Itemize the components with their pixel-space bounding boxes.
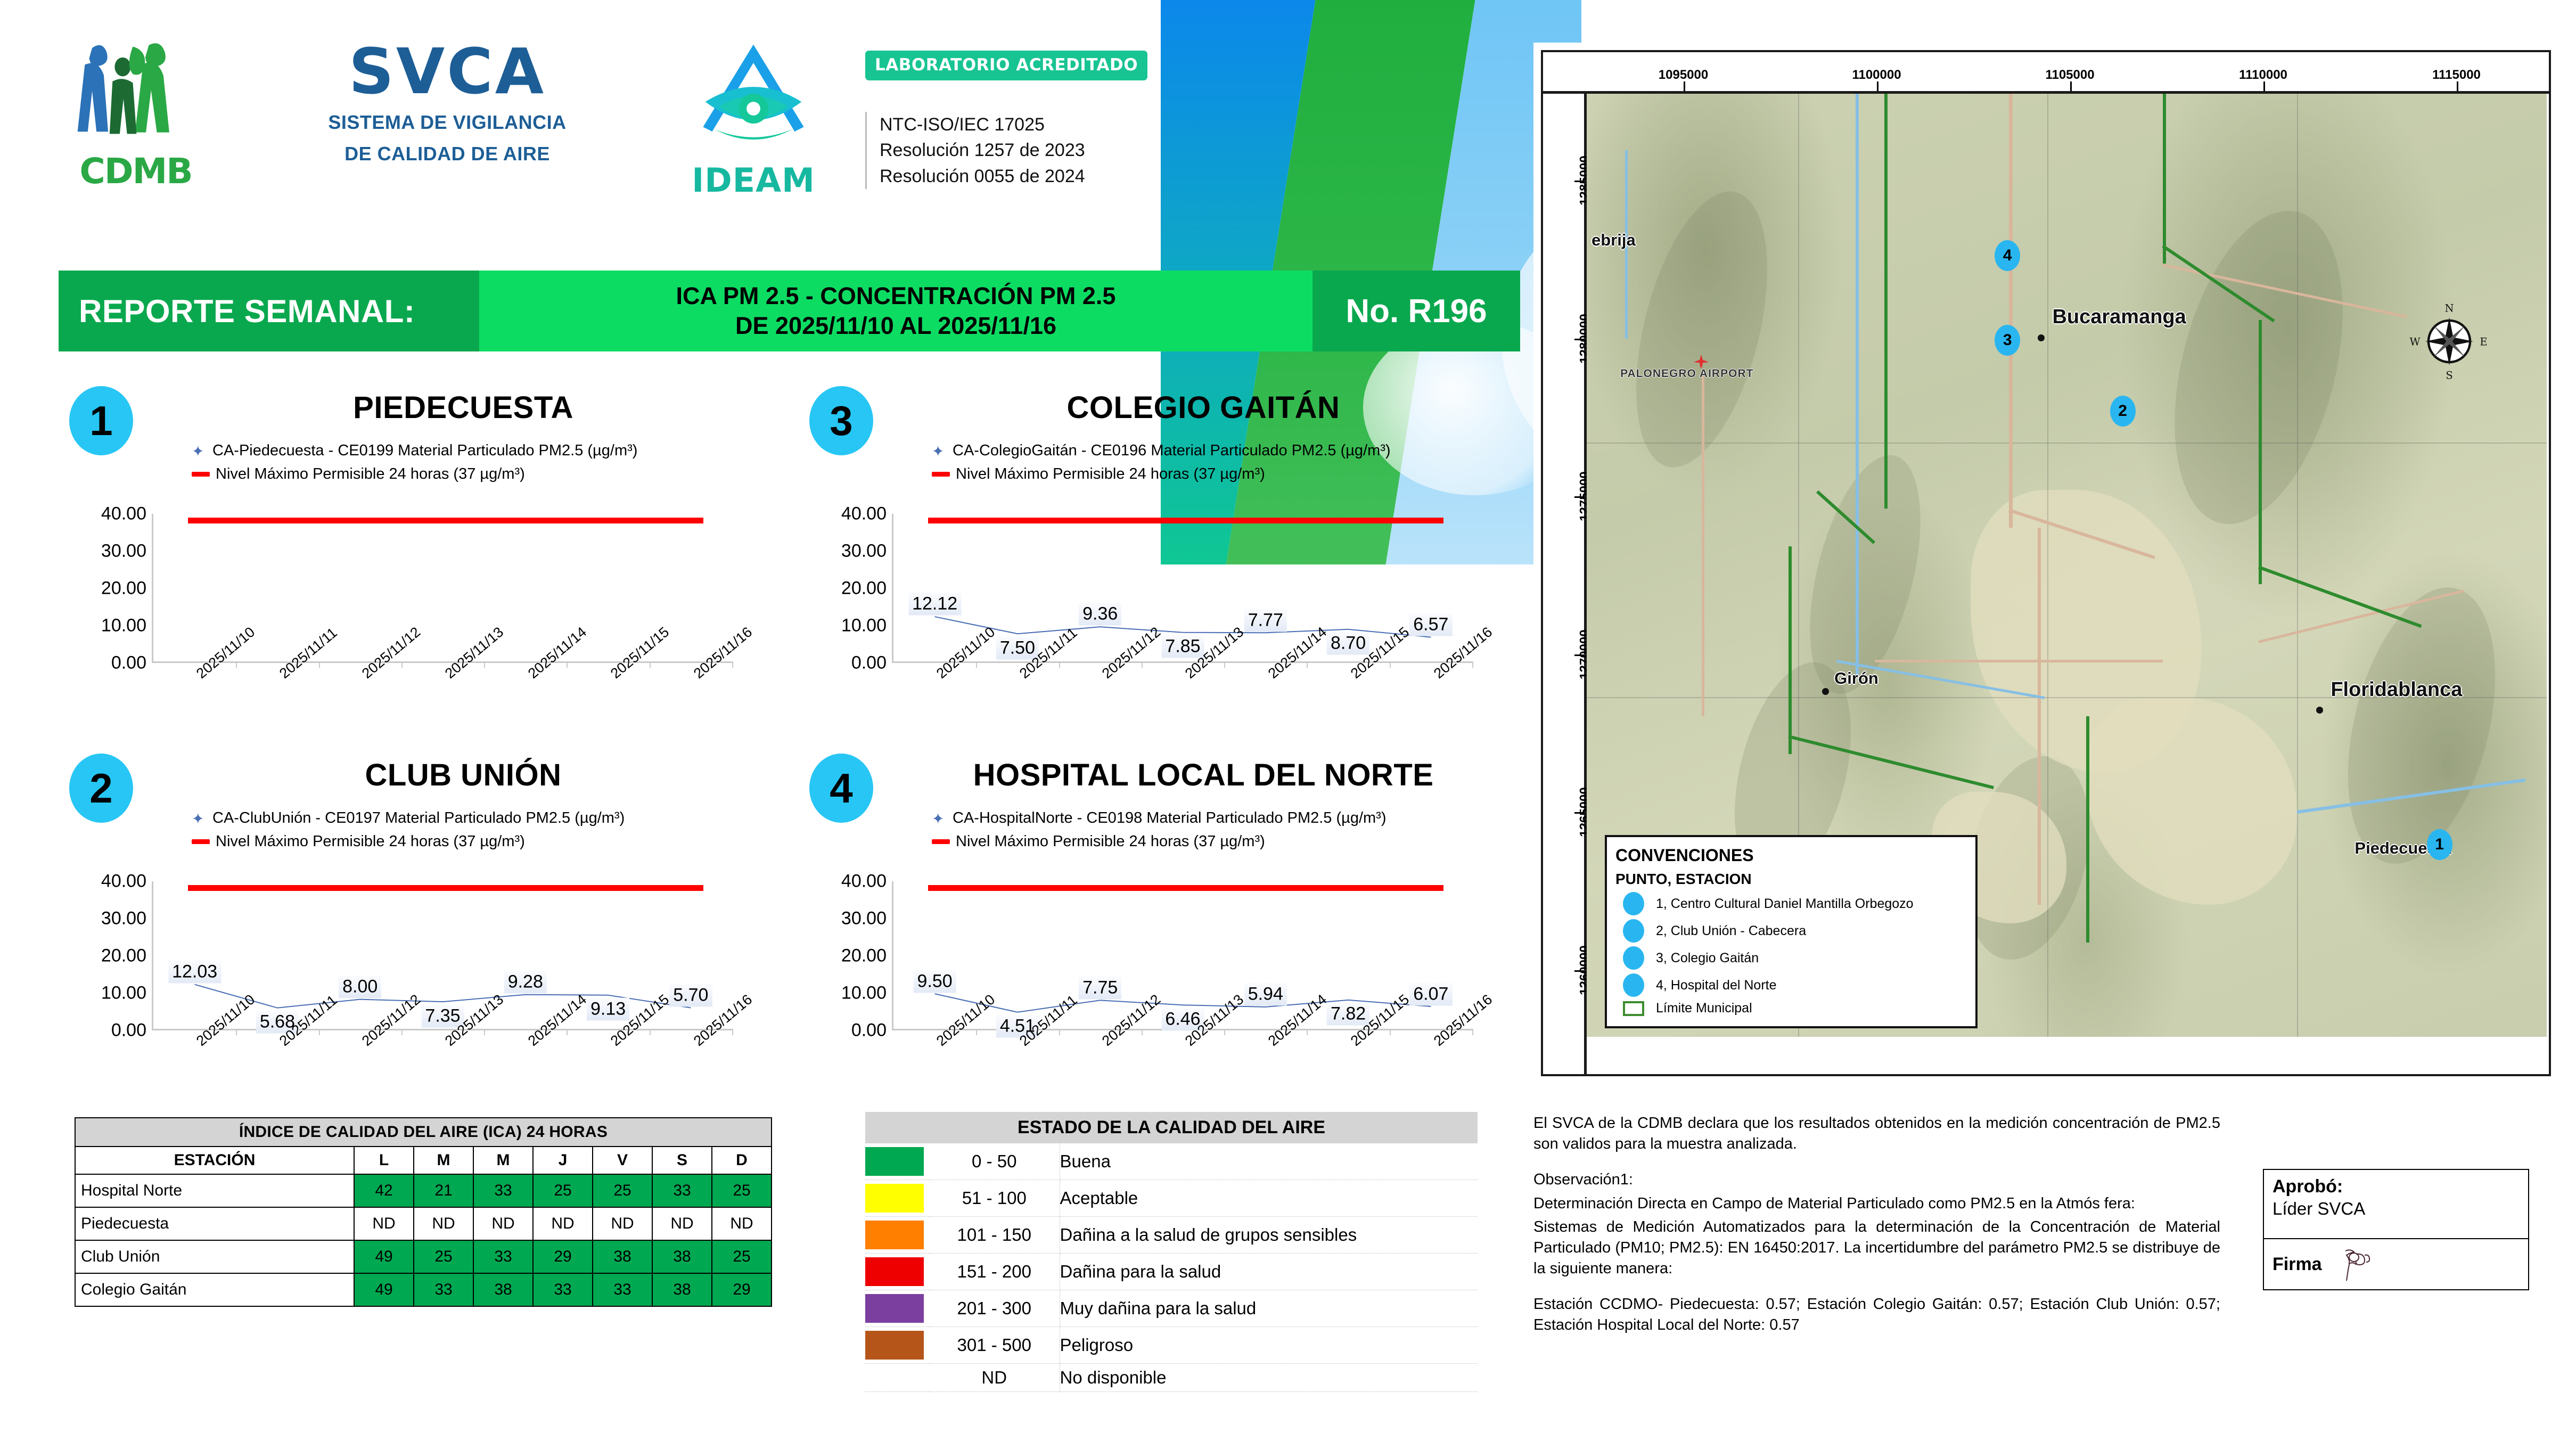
map-x-tick-mark — [1877, 81, 1878, 91]
map-legend-item: 1, Centro Cultural Daniel Mantilla Orbeg… — [1615, 892, 1967, 915]
list-item: 301 - 500Peligroso — [865, 1327, 1478, 1364]
legend-limit-row: Nivel Máximo Permisible 24 horas (37 µg/… — [932, 833, 1387, 850]
legend-limit-row: Nivel Máximo Permisible 24 horas (37 µg/… — [192, 833, 625, 850]
y-tick-label: 10.00 — [101, 616, 146, 636]
map-pin-4-hospital-norte[interactable]: 4 — [1995, 240, 2020, 271]
chart-plot-area-colegio-gaitan: 0.0010.0020.0030.0040.0012.127.509.367.8… — [799, 514, 1539, 724]
ica-value-cell: 33 — [593, 1273, 652, 1306]
x-axis-tick — [976, 1029, 977, 1035]
data-label: 6.57 — [1409, 613, 1452, 636]
list-item: 201 - 300Muy dañina para la salud — [865, 1290, 1478, 1327]
aq-legend-title: ESTADO DE LA CALIDAD DEL AIRE — [865, 1112, 1478, 1143]
aq-description-label: Peligroso — [1060, 1327, 1478, 1364]
aq-range-label: 301 - 500 — [929, 1327, 1060, 1364]
map-x-tick-label: 1110000 — [2239, 68, 2287, 83]
aq-range-label: ND — [929, 1364, 1060, 1392]
legend-limit-label: Nivel Máximo Permisible 24 horas (37 µg/… — [956, 833, 1265, 850]
map-y-axis: 1285000128000012750001270000126500012600… — [1543, 94, 1587, 1074]
city-label-giron: Girón — [1834, 669, 1878, 688]
ica-value-cell: ND — [414, 1207, 473, 1240]
cdmb-logo: CDMB — [59, 32, 213, 192]
ica-value-cell: 38 — [652, 1240, 712, 1273]
ica-col-day: L — [354, 1147, 414, 1174]
red-line-marker-icon — [192, 839, 210, 844]
aq-color-cell — [865, 1364, 929, 1392]
city-dot-giron — [1822, 688, 1829, 695]
map-legend-box: CONVENCIONES PUNTO, ESTACION 1, Centro C… — [1605, 835, 1978, 1028]
city-label-lebrija: ebrija — [1591, 231, 1636, 250]
map-x-tick-mark — [2457, 81, 2458, 91]
station-point-icon — [1623, 919, 1644, 943]
x-axis-tick — [236, 1029, 237, 1035]
map-x-tick-label: 1105000 — [2045, 68, 2094, 83]
map-legend-boundary-label: Límite Municipal — [1656, 1001, 1752, 1016]
chart-badge-piedecuesta: 1 — [69, 386, 133, 455]
svca-logo: SVCA SISTEMA DE VIGILANCIA DE CALIDAD DE… — [298, 40, 596, 194]
aq-description-label: No disponible — [1060, 1364, 1478, 1392]
svg-text:W: W — [2409, 335, 2420, 348]
legend-series-label: CA-ClubUnión - CE0197 Material Particula… — [212, 809, 625, 827]
ica-value-cell: 33 — [473, 1174, 533, 1207]
x-axis-tick — [1390, 1029, 1391, 1035]
aq-color-cell — [865, 1180, 929, 1217]
y-tick-label: 20.00 — [101, 578, 146, 599]
map-x-tick-label: 1100000 — [1852, 68, 1901, 83]
legend-series-row: ✦CA-ColegioGaitán - CE0196 Material Part… — [932, 442, 1391, 460]
ica-value-cell: 25 — [712, 1174, 772, 1207]
approved-by-value: Líder SVCA — [2273, 1199, 2528, 1219]
y-tick-label: 40.00 — [841, 871, 887, 892]
aq-color-cell — [865, 1290, 929, 1327]
x-axis-tick — [1472, 661, 1473, 668]
data-label: 9.50 — [914, 970, 956, 993]
declaration-observation-title: Observación1: — [1533, 1169, 2220, 1190]
map-legend-title: CONVENCIONES — [1615, 846, 1967, 865]
declaration-text: El SVCA de la CDMB declara que los resul… — [1533, 1113, 2220, 1339]
y-tick-label: 0.00 — [111, 653, 146, 674]
data-label: 7.77 — [1244, 609, 1287, 632]
location-map: 10950001100000110500011100001115000 1285… — [1533, 43, 2558, 1084]
data-label: 6.07 — [1409, 983, 1452, 1005]
aq-description-label: Dañina para la salud — [1060, 1254, 1478, 1290]
signature-mark — [2338, 1246, 2381, 1283]
municipal-boundary-icon — [1623, 1001, 1644, 1016]
x-axis-tick — [1472, 1029, 1473, 1035]
chart-plot-area-piedecuesta: 0.0010.0020.0030.0040.002025/11/102025/1… — [59, 514, 799, 724]
table-row: Hospital Norte42213325253325 — [75, 1174, 772, 1207]
ica-value-cell: 49 — [354, 1273, 414, 1306]
map-legend-item-label: 2, Club Unión - Cabecera — [1656, 923, 1806, 939]
map-legend-item-label: 1, Centro Cultural Daniel Mantilla Orbeg… — [1656, 896, 1914, 912]
ica-value-cell: 33 — [414, 1273, 473, 1306]
y-tick-label: 10.00 — [841, 616, 887, 636]
ica-value-cell: 33 — [533, 1273, 593, 1306]
chart-legend-hospital-norte: ✦CA-HospitalNorte - CE0198 Material Part… — [932, 809, 1387, 856]
city-dot-bucaramanga — [2038, 334, 2045, 341]
ica-col-day: M — [473, 1147, 533, 1174]
data-label: 9.36 — [1079, 603, 1121, 626]
y-tick-label: 40.00 — [841, 504, 887, 525]
ica-value-cell: 25 — [712, 1240, 772, 1273]
map-legend-item: 3, Colegio Gaitán — [1615, 946, 1967, 970]
x-axis-tick — [567, 661, 568, 668]
aq-description-label: Aceptable — [1060, 1180, 1478, 1217]
y-tick-label: 20.00 — [841, 946, 887, 967]
banner-title-line1: ICA PM 2.5 - CONCENTRACIÓN PM 2.5 — [479, 281, 1312, 311]
ica-col-day: S — [652, 1147, 712, 1174]
data-label: 7.82 — [1327, 1003, 1369, 1026]
ica-value-cell: 42 — [354, 1174, 414, 1207]
x-axis-tick — [732, 661, 733, 668]
table-row: Club Unión49253329383825 — [75, 1240, 772, 1273]
aq-color-cell — [865, 1327, 929, 1364]
aq-color-swatch — [865, 1294, 924, 1323]
aq-color-swatch — [865, 1257, 924, 1286]
table-row: PiedecuestaNDNDNDNDNDNDND — [75, 1207, 772, 1240]
aq-color-swatch — [865, 1221, 924, 1249]
ica-table-title: ÍNDICE DE CALIDAD DEL AIRE (ICA) 24 HORA… — [75, 1118, 772, 1147]
report-page: CDMB SVCA SISTEMA DE VIGILANCIA DE CALID… — [0, 0, 2576, 1449]
svg-text:E: E — [2480, 335, 2487, 348]
x-axis-tick — [484, 1029, 485, 1035]
ica-table: ÍNDICE DE CALIDAD DEL AIRE (ICA) 24 HORA… — [75, 1117, 772, 1307]
legend-limit-label: Nivel Máximo Permisible 24 horas (37 µg/… — [216, 465, 525, 483]
x-axis-tick — [567, 1029, 568, 1035]
svca-tagline-line2: DE CALIDAD DE AIRE — [298, 142, 596, 166]
diamond-marker-icon: ✦ — [932, 444, 946, 458]
y-tick-label: 40.00 — [101, 504, 146, 525]
y-tick-label: 0.00 — [851, 653, 887, 674]
ideam-logo: IDEAM — [682, 40, 825, 200]
ica-value-cell: 29 — [712, 1273, 772, 1306]
y-tick-label: 10.00 — [101, 983, 146, 1004]
map-x-tick-mark — [2263, 81, 2265, 91]
ica-col-day: M — [414, 1147, 473, 1174]
legend-limit-row: Nivel Máximo Permisible 24 horas (37 µg/… — [932, 465, 1391, 483]
diamond-marker-icon: ✦ — [192, 444, 206, 458]
map-legend-item: 2, Club Unión - Cabecera — [1615, 919, 1967, 943]
ica-col-day: J — [533, 1147, 593, 1174]
aq-description-label: Muy dañina para la salud — [1060, 1290, 1478, 1327]
station-point-icon — [1623, 946, 1644, 970]
aq-range-label: 0 - 50 — [929, 1143, 1060, 1180]
x-axis-tick — [732, 1029, 733, 1035]
map-y-tick-mark — [1574, 654, 1584, 656]
data-label: 8.00 — [339, 976, 381, 998]
aq-range-label: 201 - 300 — [929, 1290, 1060, 1327]
y-tick-label: 30.00 — [101, 908, 146, 929]
x-axis-tick — [1224, 1029, 1225, 1035]
declaration-paragraph-1: El SVCA de la CDMB declara que los resul… — [1533, 1113, 2220, 1155]
aq-color-cell — [865, 1143, 929, 1180]
map-y-tick-mark — [1574, 496, 1584, 498]
city-label-floridablanca: Floridablanca — [2331, 678, 2462, 701]
chart-title-hospital-norte: HOSPITAL LOCAL DEL NORTE — [889, 757, 1517, 793]
ica-value-cell: 38 — [652, 1273, 712, 1306]
data-label: 7.85 — [1161, 635, 1204, 658]
legend-series-row: ✦CA-HospitalNorte - CE0198 Material Part… — [932, 809, 1387, 827]
chart-panel-colegio-gaitan: 3COLEGIO GAITÁN✦CA-ColegioGaitán - CE019… — [799, 373, 1539, 724]
declaration-paragraph-3: Sistemas de Medición Automatizados para … — [1533, 1217, 2220, 1279]
chart-title-colegio-gaitan: COLEGIO GAITÁN — [889, 390, 1517, 425]
y-tick-label: 30.00 — [841, 908, 887, 929]
x-axis-tick — [236, 661, 237, 668]
list-item: 101 - 150Dañina a la salud de grupos sen… — [865, 1217, 1478, 1254]
x-axis-tick — [1390, 661, 1391, 668]
aq-description-label: Buena — [1060, 1143, 1478, 1180]
x-axis-labels: 2025/11/102025/11/112025/11/122025/11/13… — [892, 669, 1472, 728]
airport-label: PALONEGRO AIRPORT — [1620, 367, 1753, 380]
aq-description-label: Dañina a la salud de grupos sensibles — [1060, 1217, 1478, 1254]
ideam-label: IDEAM — [682, 161, 825, 200]
y-axis: 0.0010.0020.0030.0040.00 — [815, 881, 887, 1030]
signature-box: Aprobó: Líder SVCA Firma — [2263, 1169, 2529, 1290]
svca-acronym: SVCA — [298, 40, 596, 103]
list-item: 51 - 100Aceptable — [865, 1180, 1478, 1217]
banner-report-label: REPORTE SEMANAL: — [59, 271, 479, 351]
y-tick-label: 40.00 — [101, 871, 146, 892]
map-legend-subtitle: PUNTO, ESTACION — [1615, 871, 1967, 888]
ica-value-cell: 25 — [593, 1174, 652, 1207]
y-tick-label: 0.00 — [851, 1020, 887, 1041]
svg-text:S: S — [2446, 369, 2452, 381]
map-legend-items: 1, Centro Cultural Daniel Mantilla Orbeg… — [1615, 892, 1967, 997]
ica-station-name: Colegio Gaitán — [75, 1273, 354, 1306]
y-axis: 0.0010.0020.0030.0040.00 — [75, 881, 146, 1030]
red-line-marker-icon — [932, 472, 950, 477]
map-x-tick-mark — [2070, 81, 2072, 91]
map-frame: 10950001100000110500011100001115000 1285… — [1541, 50, 2551, 1076]
ica-col-station: ESTACIÓN — [75, 1147, 354, 1174]
data-label: 8.70 — [1327, 632, 1369, 655]
table-row: Colegio Gaitán49333833333829 — [75, 1273, 772, 1306]
list-item: 151 - 200Dañina para la salud — [865, 1254, 1478, 1290]
x-axis-tick — [319, 1029, 320, 1035]
x-axis-tick — [401, 661, 403, 668]
norm-resolucion-1257: Resolución 1257 de 2023 — [880, 137, 1085, 163]
x-axis-tick — [976, 661, 977, 668]
chart-plot-area-hospital-norte: 0.0010.0020.0030.0040.009.504.517.756.46… — [799, 881, 1539, 1092]
x-axis-tick — [484, 661, 485, 668]
legend-series-label: CA-Piedecuesta - CE0199 Material Particu… — [212, 442, 637, 460]
ideam-eye-icon — [682, 40, 825, 154]
legend-series-label: CA-ColegioGaitán - CE0196 Material Parti… — [953, 442, 1391, 460]
map-pin-3-colegio-gaitan[interactable]: 3 — [1995, 325, 2020, 356]
svca-tagline-line1: SISTEMA DE VIGILANCIA — [298, 110, 596, 134]
ica-value-cell: 21 — [414, 1174, 473, 1207]
data-label: 9.28 — [504, 971, 547, 994]
aq-legend-body: 0 - 50Buena51 - 100Aceptable101 - 150Dañ… — [865, 1143, 1478, 1392]
ica-value-cell: ND — [533, 1207, 593, 1240]
chart-panel-hospital-norte: 4HOSPITAL LOCAL DEL NORTE✦CA-HospitalNor… — [799, 740, 1539, 1092]
accreditation-norms: NTC-ISO/IEC 17025 Resolución 1257 de 202… — [865, 112, 1085, 189]
map-x-axis: 10950001100000110500011100001115000 — [1543, 52, 2549, 94]
x-axis-tick — [1142, 1029, 1143, 1035]
permissible-limit-line — [188, 518, 703, 523]
approved-by-label: Aprobó: — [2273, 1176, 2528, 1197]
chart-title-club-union: CLUB UNIÓN — [149, 757, 777, 793]
map-legend-item-boundary: Límite Municipal — [1615, 1001, 1967, 1016]
firma-label: Firma — [2273, 1254, 2322, 1275]
x-axis-tick — [650, 1029, 651, 1035]
norm-resolucion-0055: Resolución 0055 de 2024 — [880, 163, 1085, 189]
ica-table-header-row: ESTACIÓNLMMJVSD — [75, 1147, 772, 1174]
list-item: NDNo disponible — [865, 1364, 1478, 1392]
svg-text:N: N — [2444, 302, 2454, 314]
legend-series-label: CA-HospitalNorte - CE0198 Material Parti… — [953, 809, 1387, 827]
legend-series-row: ✦CA-ClubUnión - CE0197 Material Particul… — [192, 809, 625, 827]
data-label: 12.12 — [908, 593, 961, 616]
x-axis-tick — [1142, 661, 1143, 668]
red-line-marker-icon — [932, 839, 950, 844]
chart-badge-club-union: 2 — [69, 754, 133, 823]
station-point-icon — [1623, 973, 1644, 997]
x-axis-tick — [1224, 661, 1225, 668]
x-axis-labels: 2025/11/102025/11/112025/11/122025/11/13… — [892, 1037, 1472, 1095]
ica-station-name: Club Unión — [75, 1240, 354, 1273]
signature-cell: Firma — [2264, 1239, 2528, 1289]
map-x-tick-mark — [1684, 81, 1685, 91]
map-y-tick-mark — [1574, 970, 1584, 972]
air-quality-legend-table: ESTADO DE LA CALIDAD DEL AIRE 0 - 50Buen… — [865, 1112, 1478, 1392]
data-label: 5.70 — [669, 984, 712, 1007]
x-axis-tick — [1059, 661, 1060, 668]
y-tick-label: 30.00 — [101, 541, 146, 562]
legend-limit-label: Nivel Máximo Permisible 24 horas (37 µg/… — [216, 833, 525, 850]
diamond-marker-icon: ✦ — [192, 812, 206, 825]
chart-panel-club-union: 2CLUB UNIÓN✦CA-ClubUnión - CE0197 Materi… — [59, 740, 799, 1092]
y-tick-label: 30.00 — [841, 541, 887, 562]
aq-color-swatch — [865, 1147, 924, 1176]
ica-value-cell: 33 — [473, 1240, 533, 1273]
ica-value-cell: 29 — [533, 1240, 593, 1273]
aq-color-swatch — [865, 1331, 924, 1360]
y-tick-label: 10.00 — [841, 983, 887, 1004]
legend-limit-row: Nivel Máximo Permisible 24 horas (37 µg/… — [192, 465, 637, 483]
ica-value-cell: ND — [593, 1207, 652, 1240]
x-axis-tick — [1307, 661, 1308, 668]
y-axis: 0.0010.0020.0030.0040.00 — [75, 514, 146, 663]
aq-range-label: 51 - 100 — [929, 1180, 1060, 1217]
map-y-tick-mark — [1574, 339, 1584, 340]
map-y-tick-mark — [1574, 181, 1584, 182]
declaration-paragraph-4: Estación CCDMO- Piedecuesta: 0.57; Estac… — [1533, 1294, 2220, 1336]
map-legend-item: 4, Hospital del Norte — [1615, 973, 1967, 997]
data-label: 12.03 — [168, 960, 221, 983]
x-axis-labels: 2025/11/102025/11/112025/11/122025/11/13… — [152, 1037, 732, 1095]
x-axis-tick — [319, 661, 320, 668]
ica-table-body: Hospital Norte42213325253325PiedecuestaN… — [75, 1174, 772, 1306]
y-tick-label: 20.00 — [841, 578, 887, 599]
x-axis-tick — [401, 1029, 403, 1035]
diamond-marker-icon: ✦ — [932, 812, 946, 825]
red-line-marker-icon — [192, 472, 210, 477]
ica-value-cell: 38 — [593, 1240, 652, 1273]
ica-value-cell: ND — [712, 1207, 772, 1240]
ica-col-day: V — [593, 1147, 652, 1174]
aq-color-swatch — [865, 1184, 924, 1213]
data-label: 5.94 — [1244, 983, 1287, 1006]
ica-station-name: Piedecuesta — [75, 1207, 354, 1240]
declaration-paragraph-2: Determinación Directa en Campo de Materi… — [1533, 1193, 2220, 1214]
aq-color-cell — [865, 1217, 929, 1254]
ica-value-cell: ND — [354, 1207, 414, 1240]
data-label: 7.75 — [1079, 976, 1121, 999]
chart-legend-club-union: ✦CA-ClubUnión - CE0197 Material Particul… — [192, 809, 625, 856]
y-axis: 0.0010.0020.0030.0040.00 — [815, 514, 887, 663]
x-axis-tick — [650, 661, 651, 668]
city-label-bucaramanga: Bucaramanga — [2052, 306, 2186, 329]
banner-report-number: No. R196 — [1312, 271, 1520, 351]
y-tick-label: 0.00 — [111, 1020, 146, 1041]
ica-value-cell: ND — [473, 1207, 533, 1240]
map-legend-item-label: 4, Hospital del Norte — [1656, 978, 1777, 993]
map-y-tick-mark — [1574, 812, 1584, 814]
banner-title: ICA PM 2.5 - CONCENTRACIÓN PM 2.5 DE 202… — [479, 271, 1312, 351]
map-x-tick-label: 1095000 — [1659, 68, 1708, 83]
approved-by-cell: Aprobó: Líder SVCA — [2264, 1170, 2528, 1239]
legend-limit-label: Nivel Máximo Permisible 24 horas (37 µg/… — [956, 465, 1265, 483]
y-tick-label: 20.00 — [101, 946, 146, 967]
ica-value-cell: 38 — [473, 1273, 533, 1306]
chart-badge-hospital-norte: 4 — [809, 754, 873, 823]
chart-badge-colegio-gaitan: 3 — [809, 386, 873, 455]
x-axis-tick — [1307, 1029, 1308, 1035]
legend-series-row: ✦CA-Piedecuesta - CE0199 Material Partic… — [192, 442, 637, 460]
aq-color-cell — [865, 1254, 929, 1290]
chart-plot-area-club-union: 0.0010.0020.0030.0040.0012.035.688.007.3… — [59, 881, 799, 1092]
map-canvas: Bucaramanga Girón Floridablanca Piedecue… — [1587, 94, 2547, 1037]
chart-legend-piedecuesta: ✦CA-Piedecuesta - CE0199 Material Partic… — [192, 442, 637, 489]
map-pin-1-centro-cultural[interactable]: 1 — [2427, 829, 2452, 860]
map-pin-2-club-union[interactable]: 2 — [2110, 396, 2136, 427]
ica-value-cell: 33 — [652, 1174, 712, 1207]
norm-ntc-iso: NTC-ISO/IEC 17025 — [880, 112, 1085, 137]
chart-panel-piedecuesta: 1PIEDECUESTA✦CA-Piedecuesta - CE0199 Mat… — [59, 373, 799, 724]
ica-value-cell: 25 — [414, 1240, 473, 1273]
compass-rose-icon: N S E W — [2409, 301, 2489, 381]
report-title-banner: REPORTE SEMANAL: ICA PM 2.5 - CONCENTRAC… — [59, 271, 1520, 351]
x-axis-labels: 2025/11/102025/11/112025/11/122025/11/13… — [152, 669, 732, 728]
map-x-tick-label: 1115000 — [2432, 68, 2481, 83]
cdmb-people-icon — [59, 32, 213, 141]
accredited-lab-badge: LABORATORIO ACREDITADO — [865, 51, 1147, 80]
banner-title-line2: DE 2025/11/10 AL 2025/11/16 — [479, 311, 1312, 341]
list-item: 0 - 50Buena — [865, 1143, 1478, 1180]
aq-range-label: 101 - 150 — [929, 1217, 1060, 1254]
ica-station-name: Hospital Norte — [75, 1174, 354, 1207]
ica-value-cell: ND — [652, 1207, 712, 1240]
chart-legend-colegio-gaitan: ✦CA-ColegioGaitán - CE0196 Material Part… — [932, 442, 1391, 489]
ica-value-cell: 49 — [354, 1240, 414, 1273]
chart-title-piedecuesta: PIEDECUESTA — [149, 390, 777, 425]
cdmb-label: CDMB — [59, 151, 213, 192]
map-legend-item-label: 3, Colegio Gaitán — [1656, 951, 1759, 966]
aq-range-label: 151 - 200 — [929, 1254, 1060, 1290]
data-label: 9.13 — [587, 998, 629, 1021]
x-axis-tick — [1059, 1029, 1060, 1035]
ica-value-cell: 25 — [533, 1174, 593, 1207]
station-point-icon — [1623, 892, 1644, 915]
ica-col-day: D — [712, 1147, 772, 1174]
